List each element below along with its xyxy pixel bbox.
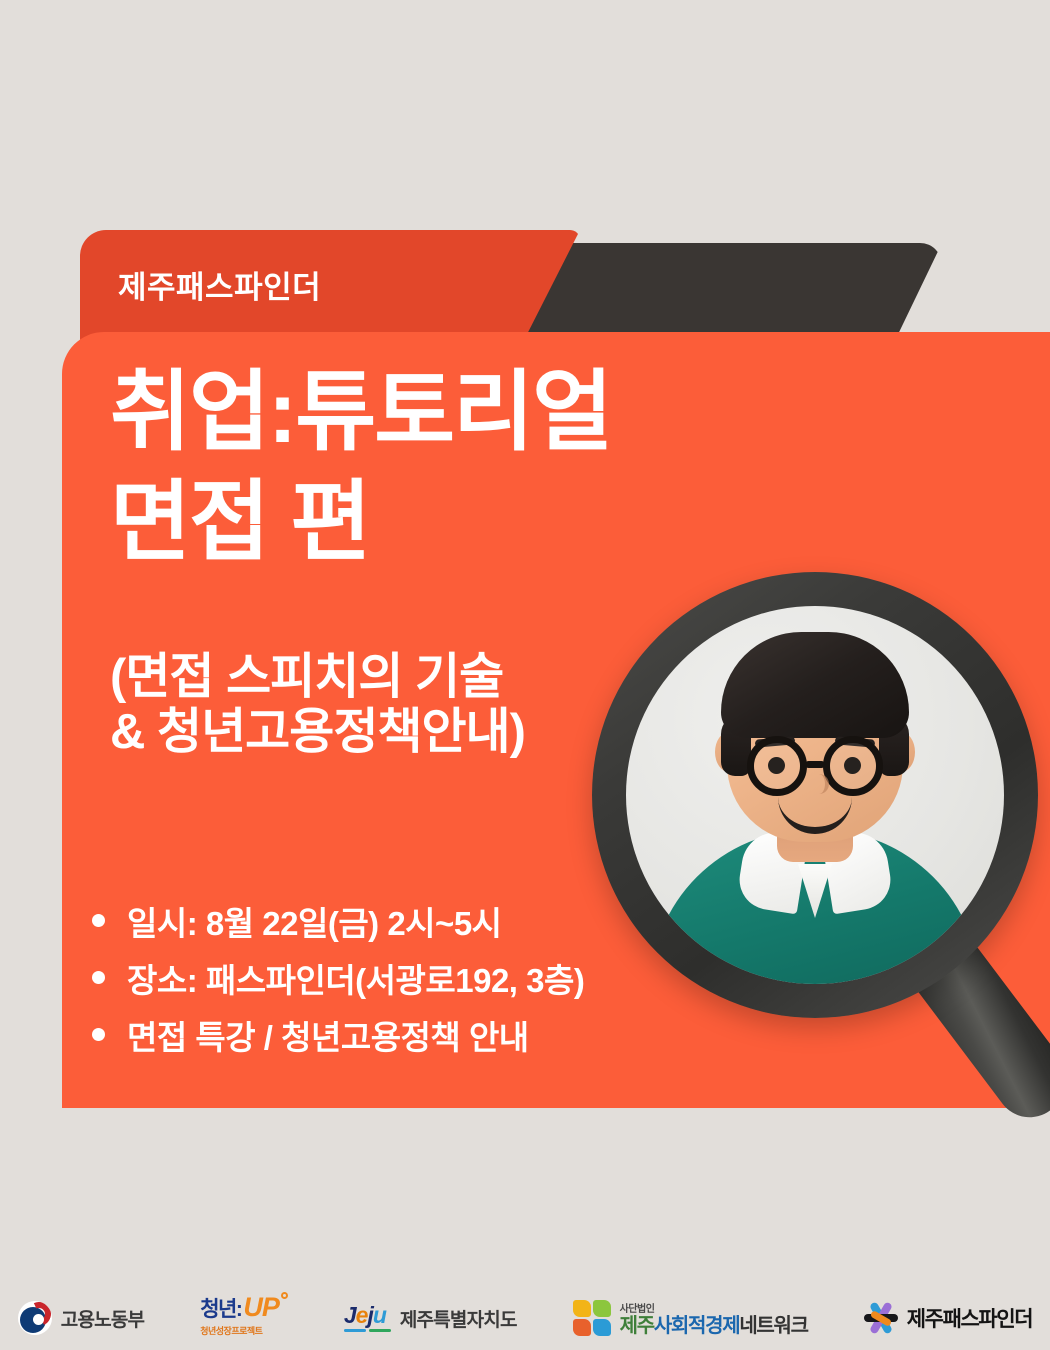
person-hair: [721, 632, 909, 738]
logo-label-part-b: 사회적경제: [654, 1315, 740, 1337]
organization-tab-label: 제주패스파인더: [118, 262, 321, 307]
taegeuk-icon: [18, 1301, 52, 1335]
list-item: 일시: 8월 22일(금) 2시~5시: [92, 893, 584, 948]
logo-label: 제주패스파인더: [907, 1303, 1032, 1333]
title-line-2: 면접 편: [110, 478, 611, 566]
logo-label: 제주사회적경제네트워크: [620, 1316, 808, 1336]
poster-canvas: 제주패스파인더: [0, 0, 1050, 1350]
glasses-bridge: [805, 761, 825, 768]
glasses-lens-left: [747, 736, 807, 796]
logo-prefix: 사단법인: [620, 1300, 808, 1315]
subtitle-line-1: (면접 스피치의 기술: [110, 650, 525, 705]
logo-tagline: 청년성장프로젝트: [200, 1324, 262, 1337]
logo-label-kr: 청년:: [200, 1293, 241, 1323]
logo-label-part-a: 제주: [620, 1315, 654, 1337]
pinwheel-icon: [573, 1300, 611, 1336]
logo-jeju-province: Jeju 제주특별자치도: [344, 1292, 517, 1344]
list-item: 면접 특강 / 청년고용정책 안내: [92, 1007, 584, 1062]
magnifier-lens: [626, 606, 1004, 984]
sponsor-logo-bar: 고용노동부 청년: UP 청년성장프로젝트 Jeju 제주특별자치도: [0, 1286, 1050, 1350]
logo-label-en: UP: [243, 1292, 279, 1323]
event-location: 장소: 패스파인더(서광로192, 3층): [127, 954, 584, 1002]
logo-jeju-pathfinder: 제주패스파인더: [864, 1292, 1032, 1344]
logo-ministry-of-employment-and-labor: 고용노동부: [18, 1292, 144, 1344]
logo-text-group: 사단법인 제주사회적경제네트워크: [620, 1300, 808, 1336]
jeju-underline-icon: [344, 1329, 391, 1332]
degree-mark-icon: [281, 1292, 288, 1299]
bullet-dot-icon: [92, 1028, 105, 1041]
logo-label: 고용노동부: [61, 1305, 144, 1332]
logo-wordmark: Jeju: [344, 1304, 391, 1327]
bullet-dot-icon: [92, 971, 105, 984]
logo-jeju-social-economy-network: 사단법인 제주사회적경제네트워크: [573, 1292, 808, 1344]
youth-up-icon: 청년: UP: [200, 1292, 288, 1323]
magnifier-rim-icon: [592, 572, 1038, 1018]
subtitle-line-2: & 청년고용정책안내): [110, 705, 525, 760]
event-program: 면접 특강 / 청년고용정책 안내: [127, 1011, 529, 1059]
title-line-1: 취업:튜토리얼: [110, 368, 611, 456]
jeju-wordmark-icon: Jeju: [344, 1304, 391, 1332]
event-datetime: 일시: 8월 22일(금) 2시~5시: [127, 897, 502, 945]
poster-title: 취업:튜토리얼 면접 편: [110, 368, 611, 588]
logo-youth-up: 청년: UP 청년성장프로젝트: [200, 1292, 288, 1344]
logo-label: 제주특별자치도: [400, 1305, 517, 1332]
event-details-list: 일시: 8월 22일(금) 2시~5시 장소: 패스파인더(서광로192, 3층…: [92, 893, 584, 1064]
list-item: 장소: 패스파인더(서광로192, 3층): [92, 950, 584, 1005]
bullet-dot-icon: [92, 914, 105, 927]
glasses-lens-right: [823, 736, 883, 796]
star-burst-icon: [864, 1301, 898, 1335]
magnifying-glass-illustration: [592, 572, 1050, 1212]
poster-subtitle: (면접 스피치의 기술 & 청년고용정책안내): [110, 650, 525, 760]
logo-label-part-c: 네트워크: [739, 1315, 807, 1337]
